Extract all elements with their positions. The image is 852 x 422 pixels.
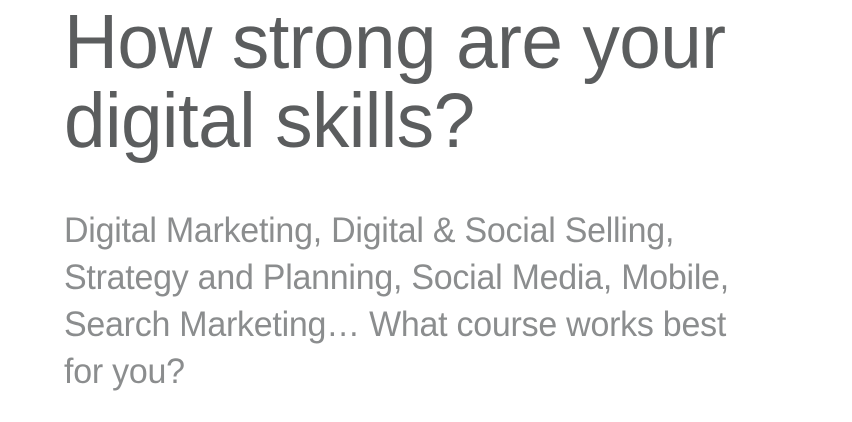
page-subtitle: Digital Marketing, Digital & Social Sell… <box>64 207 766 395</box>
page-title: How strong are your digital skills? <box>64 3 821 161</box>
hero-section: How strong are your digital skills? Digi… <box>0 0 852 422</box>
